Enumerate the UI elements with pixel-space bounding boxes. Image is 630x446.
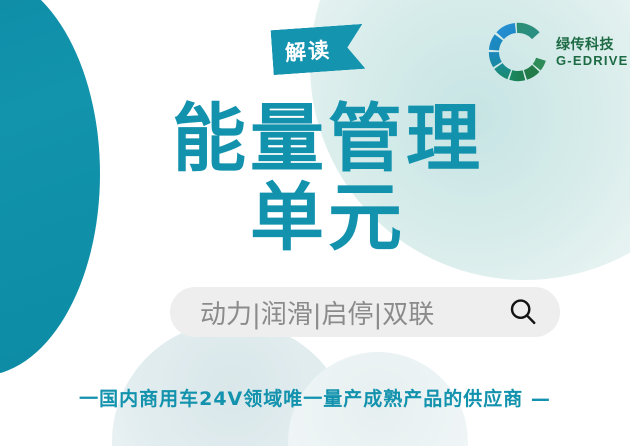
search-input[interactable]: 动力|润滑|启停|双联	[200, 294, 434, 331]
ribbon-badge: 解读	[271, 24, 366, 75]
page-title-line-1: 能量管理	[26, 103, 630, 176]
tagline: 一国内商用车24V领域唯一量产成熟产品的供应商 —	[0, 384, 630, 411]
brand-name-cn: 绿传科技	[556, 37, 628, 51]
search-bar[interactable]: 动力|润滑|启停|双联	[170, 287, 560, 337]
ring-c-logo-icon	[484, 18, 552, 86]
brand-name-en: G-EDRIVE	[556, 54, 628, 67]
poster-canvas: 绿传科技 G-EDRIVE 解读 能量管理 单元 动力|润滑|启停|双联 一国内…	[0, 0, 630, 446]
page-title: 能量管理 单元	[0, 103, 630, 256]
page-title-line-2: 单元	[26, 182, 630, 255]
brand-logo-wordmark: 绿传科技 G-EDRIVE	[556, 37, 628, 67]
ribbon-badge-label: 解读	[284, 34, 332, 67]
brand-logo: 绿传科技 G-EDRIVE	[484, 12, 624, 92]
search-icon[interactable]	[508, 297, 538, 327]
